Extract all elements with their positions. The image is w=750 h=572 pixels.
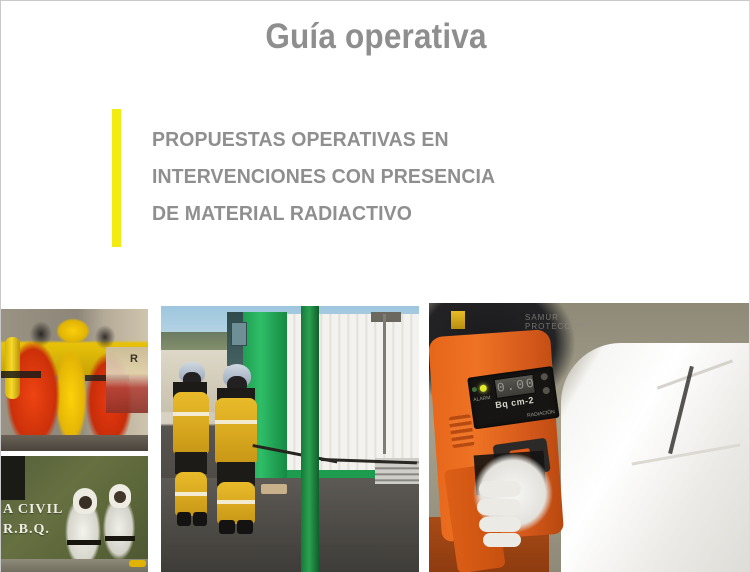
face-shape [79, 496, 92, 509]
finger-shape [483, 533, 521, 547]
civil-protection-tent-photo: A CIVIL R.B.Q. [1, 456, 148, 572]
subtitle-text: PROPUESTAS OPERATIVAS EN INTERVENCIONES … [152, 109, 495, 232]
power-led-icon [472, 387, 478, 393]
hazmat-suits-photo: R [1, 309, 148, 451]
radiation-detector-photo: SAMURPROTECCION 0.00 Bq cm-2 ALARM RADIA… [429, 303, 750, 572]
light-mast-head-shape [371, 312, 401, 322]
detector-display-panel: 0.00 Bq cm-2 ALARM RADIACIÓN [467, 366, 559, 429]
reflective-stripe-shape [215, 420, 257, 424]
panel-left-label: ALARM [473, 395, 491, 403]
boot-shape [129, 560, 146, 567]
truck-letter-text: R [130, 353, 138, 365]
boot-shape [193, 512, 207, 526]
brick-shape [261, 484, 287, 494]
tent-shadow-shape [1, 456, 25, 500]
tent-label-line-2: R.B.Q. [3, 522, 50, 538]
status-led-icon [479, 384, 487, 392]
firefighters-container-photo [161, 306, 419, 572]
slide-root: Guía operativa PROPUESTAS OPERATIVAS EN … [0, 0, 750, 572]
turnout-jacket-shape [215, 398, 257, 464]
green-pole-shape [301, 306, 319, 572]
air-tank-shape [5, 337, 20, 399]
gloved-hand-shape [473, 453, 559, 549]
tent-label-line-1: A CIVIL [3, 502, 63, 518]
uniform-shoulder-text: SAMURPROTECCION [525, 313, 588, 331]
detector-vents-shape [449, 414, 475, 449]
belt-shape [105, 536, 135, 541]
photo-strip: R A CIVIL R.B.Q. [1, 301, 750, 572]
panel-right-label: RADIACIÓN [527, 409, 555, 419]
reflective-stripe-shape [217, 500, 255, 504]
ground-shape [1, 559, 148, 572]
ground-shape [1, 435, 148, 451]
uniform-badge-shape [451, 311, 465, 329]
trouser-dark-shape [175, 452, 207, 474]
container-window-shape [231, 322, 247, 346]
turnout-jacket-shape [173, 392, 209, 454]
light-mast-shape [383, 314, 386, 454]
subtitle-block: PROPUESTAS OPERATIVAS EN INTERVENCIONES … [112, 109, 582, 247]
finger-shape [479, 517, 521, 532]
fire-truck-shape [106, 347, 148, 413]
page-title: Guía operativa [39, 17, 714, 57]
detector-knob-icon [540, 373, 548, 381]
belt-shape [67, 540, 101, 545]
detector-knob-icon [542, 387, 550, 395]
reflective-stripe-shape [173, 412, 209, 416]
boot-shape [177, 512, 191, 526]
face-shape [114, 491, 126, 503]
boot-shape [219, 520, 235, 534]
harness-strap-shape [1, 371, 41, 378]
yellow-accent-bar [112, 109, 121, 247]
finger-shape [479, 481, 521, 497]
boot-shape [237, 520, 253, 534]
reflective-stripe-shape [175, 492, 207, 496]
finger-shape [477, 499, 521, 515]
